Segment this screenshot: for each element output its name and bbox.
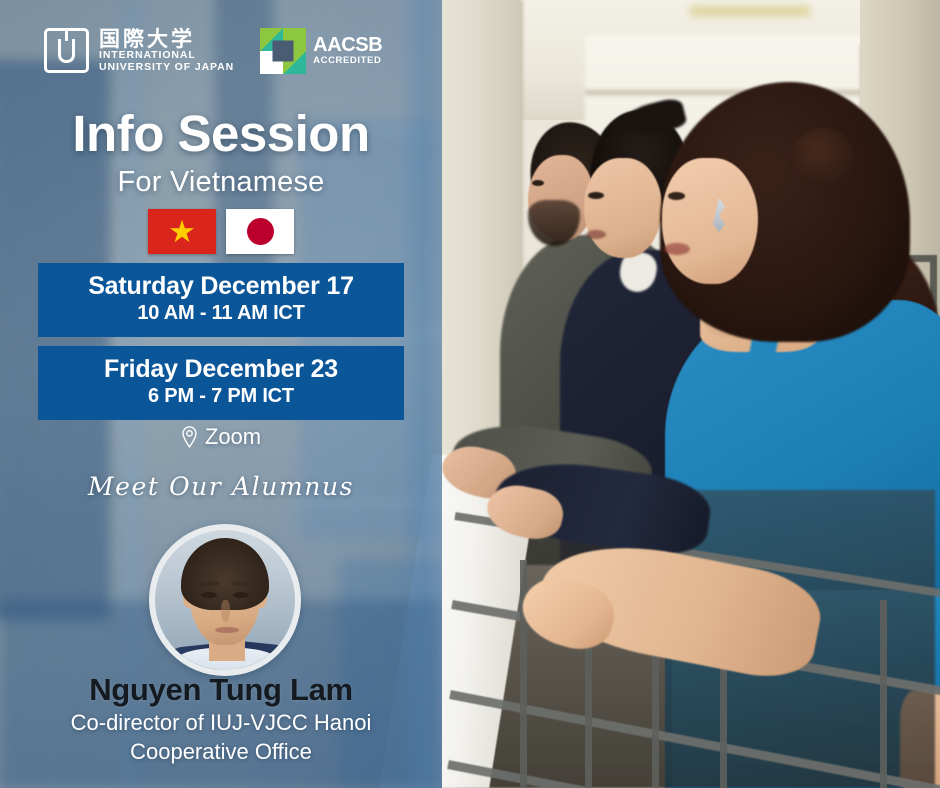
alumnus-role-line-1: Co-director of IUJ-VJCC Hanoi <box>0 708 442 737</box>
portrait-nose <box>221 600 230 622</box>
flag-row: ★ <box>0 209 442 254</box>
japan-sun-icon <box>247 218 274 245</box>
location-label: Zoom <box>205 424 261 450</box>
portrait-eye-left <box>201 592 217 598</box>
aacsb-name: AACSB <box>313 35 382 55</box>
session-card-1: Saturday December 17 10 AM - 11 AM ICT <box>38 263 404 337</box>
map-pin-icon <box>181 426 198 448</box>
iuj-logo-text: 国際大学 INTERNATIONAL UNIVERSITY OF JAPAN <box>99 28 234 74</box>
session-time: 6 PM - 7 PM ICT <box>38 384 404 408</box>
aacsb-logo: AACSB ACCREDITED <box>260 28 382 74</box>
page-title: Info Session <box>0 104 442 163</box>
photo-ceiling-light <box>690 6 810 16</box>
page-subtitle: For Vietnamese <box>0 166 442 199</box>
portrait-eye-right <box>233 592 249 598</box>
person-woman-face <box>662 158 758 284</box>
iuj-logo: 国際大学 INTERNATIONAL UNIVERSITY OF JAPAN <box>44 28 234 74</box>
location-row: Zoom <box>0 424 442 450</box>
alumnus-role-line-2: Cooperative Office <box>0 737 442 766</box>
session-date: Saturday December 17 <box>38 272 404 301</box>
person-asian-man-mouth <box>586 230 606 239</box>
person-asian-man-face <box>584 158 662 258</box>
japan-flag <box>226 209 294 254</box>
logo-row: 国際大学 INTERNATIONAL UNIVERSITY OF JAPAN <box>44 28 382 74</box>
iuj-u-monogram-icon <box>44 28 89 73</box>
vietnam-star-icon: ★ <box>168 216 196 247</box>
poster-content: 国際大学 INTERNATIONAL UNIVERSITY OF JAPAN <box>0 0 442 788</box>
railing-post <box>880 600 887 788</box>
iuj-english-line-2: UNIVERSITY OF JAPAN <box>99 62 234 74</box>
person-woman-eye <box>668 192 685 200</box>
session-date: Friday December 23 <box>38 355 404 384</box>
alumnus-section-label: Meet Our Alumnus <box>0 472 442 501</box>
alumnus-name: Nguyen Tung Lam <box>0 672 442 708</box>
alumnus-role: Co-director of IUJ-VJCC Hanoi Cooperativ… <box>0 708 442 766</box>
aacsb-center-square <box>273 41 294 62</box>
info-session-poster: 国際大学 INTERNATIONAL UNIVERSITY OF JAPAN <box>0 0 940 788</box>
portrait-mouth <box>215 627 239 633</box>
aacsb-diamond-icon <box>260 28 306 74</box>
aacsb-logo-text: AACSB ACCREDITED <box>313 35 382 67</box>
iuj-u-glyph <box>58 39 75 63</box>
iuj-japanese-name: 国際大学 <box>99 28 234 50</box>
session-time: 10 AM - 11 AM ICT <box>38 301 404 325</box>
person-woman-mouth <box>664 243 690 255</box>
person-woman-hair-bun <box>792 128 854 186</box>
person-asian-man-eye <box>588 192 604 199</box>
aacsb-subtitle: ACCREDITED <box>313 55 382 67</box>
alumnus-avatar <box>149 524 301 676</box>
session-card-2: Friday December 23 6 PM - 7 PM ICT <box>38 346 404 420</box>
person-bearded-man-eye <box>532 180 544 186</box>
vietnam-flag: ★ <box>148 209 216 254</box>
alumnus-portrait-photo <box>155 530 295 670</box>
